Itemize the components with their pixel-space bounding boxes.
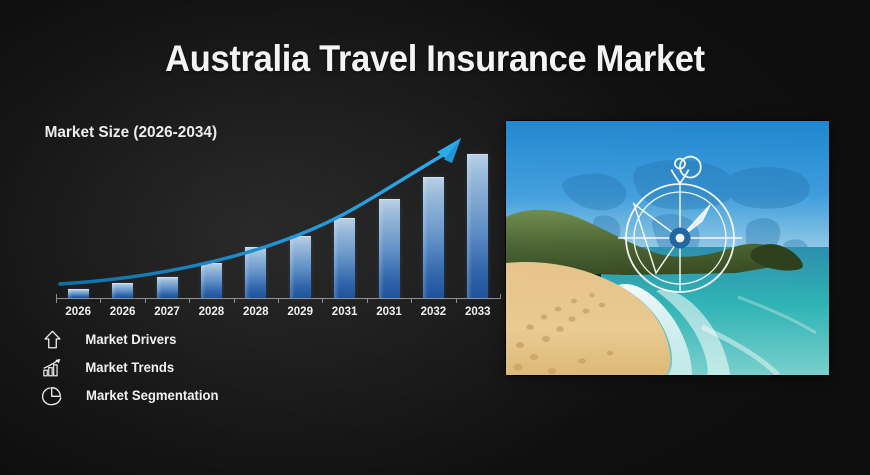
legend-item-label: Market Drivers — [85, 332, 176, 347]
x-axis-label: 2028 — [189, 306, 233, 318]
legend-item-label: Market Segmentation — [86, 388, 218, 403]
legend-item-market-trends[interactable]: Market Trends — [42, 354, 221, 381]
page-title: Australia Travel Insurance Market — [30, 38, 839, 80]
axis-tick — [189, 298, 190, 303]
x-axis-label: 2032 — [411, 306, 455, 318]
x-axis-label: 2026 — [56, 306, 100, 318]
x-axis-label: 2028 — [234, 306, 278, 318]
x-axis-label: 2029 — [278, 306, 322, 318]
bar-chart-growth-icon — [42, 357, 72, 379]
axis-tick — [234, 298, 235, 303]
axis-tick — [367, 298, 368, 303]
trend-arrow-icon — [40, 132, 500, 312]
x-axis-label: 2031 — [323, 306, 367, 318]
axis-cap-right — [500, 294, 501, 299]
up-arrow-icon — [42, 329, 72, 351]
axis-tick — [456, 298, 457, 303]
slide-canvas: Australia Travel Insurance Market Market… — [0, 0, 870, 475]
legend-item-market-segmentation[interactable]: Market Segmentation — [42, 382, 221, 409]
axis-tick — [411, 298, 412, 303]
pie-chart-icon — [42, 385, 72, 407]
x-axis-label: 2031 — [367, 306, 411, 318]
legend-item-market-drivers[interactable]: Market Drivers — [42, 326, 221, 353]
legend-list: Market Drivers Market Trends — [42, 326, 221, 410]
axis-tick — [56, 298, 57, 303]
x-axis-label: 2027 — [145, 306, 189, 318]
axis-tick — [100, 298, 101, 303]
x-axis-label: 2033 — [456, 306, 500, 318]
market-size-bar-chart: 2026202620272028202820292031203120322033 — [40, 140, 500, 320]
x-axis-label: 2026 — [101, 306, 145, 318]
axis-tick — [322, 298, 323, 303]
beach-compass-travel-photo — [506, 121, 829, 375]
legend-item-label: Market Trends — [85, 360, 174, 375]
axis-tick — [145, 298, 146, 303]
axis-tick — [278, 298, 279, 303]
